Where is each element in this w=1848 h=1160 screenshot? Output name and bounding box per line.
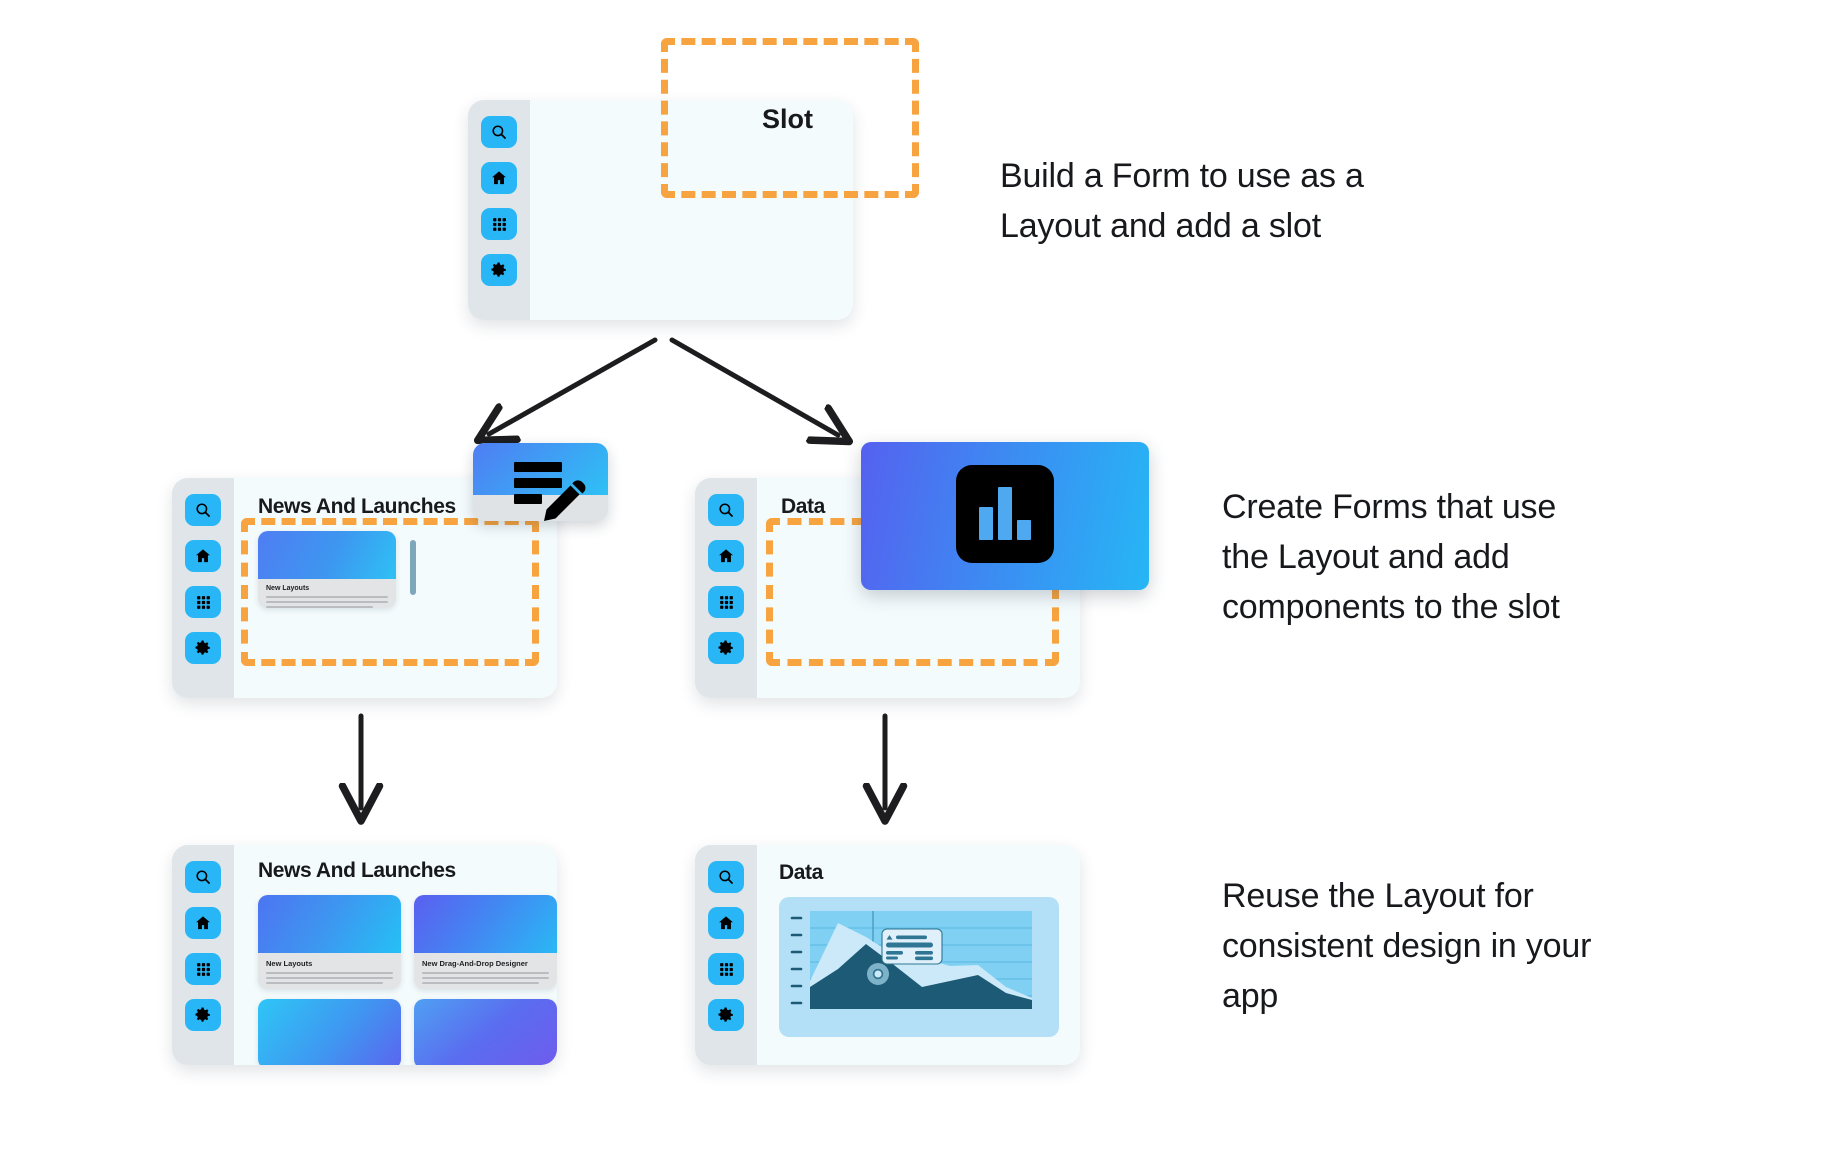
grid-icon xyxy=(491,216,508,233)
home-icon xyxy=(194,547,212,565)
sidebar-item-search[interactable] xyxy=(708,494,744,526)
caption-line: components to the slot xyxy=(1222,583,1560,633)
home-icon xyxy=(717,914,735,932)
gear-icon xyxy=(717,639,735,657)
result-data-sidebar xyxy=(695,845,757,1065)
gear-icon xyxy=(194,1006,212,1024)
result-news-content: News And Launches New Layouts New Drag-A… xyxy=(234,845,557,1065)
sidebar-item-home[interactable] xyxy=(185,540,221,572)
grid-icon xyxy=(718,961,735,978)
result-tile[interactable]: New Layouts xyxy=(258,895,401,989)
tile-body-text xyxy=(422,972,549,984)
tile-body: New Drag-And-Drop Designer xyxy=(414,953,557,989)
sidebar-item-apps[interactable] xyxy=(481,208,517,240)
sidebar-item-home[interactable] xyxy=(185,907,221,939)
tile-thumbnail xyxy=(258,895,401,953)
data-badge[interactable] xyxy=(861,442,1149,590)
data-form-sidebar xyxy=(695,478,757,698)
tile-body-text xyxy=(266,972,393,984)
sidebar-item-search[interactable] xyxy=(481,116,517,148)
layout-slot-label: Slot xyxy=(762,104,813,135)
sidebar-item-settings[interactable] xyxy=(481,254,517,286)
sidebar-item-apps[interactable] xyxy=(708,953,744,985)
y-axis-ticks xyxy=(792,918,801,1003)
result-data-content: Data xyxy=(757,845,1080,1065)
caption-line: consistent design in your xyxy=(1222,922,1591,972)
layout-sidebar xyxy=(468,100,530,320)
result-news-window[interactable]: News And Launches New Layouts New Drag-A… xyxy=(172,845,557,1065)
tile-body: New Layouts xyxy=(258,953,401,989)
caption-line: Build a Form to use as a xyxy=(1000,152,1364,202)
sidebar-item-apps[interactable] xyxy=(708,586,744,618)
area-chart xyxy=(779,897,1059,1037)
chart-marker xyxy=(874,970,883,979)
home-icon xyxy=(490,169,508,187)
caption-step-1: Build a Form to use as a Layout and add … xyxy=(1000,152,1364,252)
result-tile[interactable] xyxy=(414,999,557,1065)
sidebar-item-home[interactable] xyxy=(708,540,744,572)
page-title: News And Launches xyxy=(258,495,456,519)
search-icon xyxy=(717,868,735,886)
branch-arrow-left xyxy=(489,340,655,434)
sidebar-item-home[interactable] xyxy=(481,162,517,194)
sidebar-item-apps[interactable] xyxy=(185,586,221,618)
result-news-sidebar xyxy=(172,845,234,1065)
tile-title: New Drag-And-Drop Designer xyxy=(422,959,549,968)
grid-icon xyxy=(195,594,212,611)
sidebar-item-settings[interactable] xyxy=(185,632,221,664)
result-data-window[interactable]: Data xyxy=(695,845,1080,1065)
sidebar-item-search[interactable] xyxy=(708,861,744,893)
gear-icon xyxy=(490,261,508,279)
form-badge-news[interactable] xyxy=(473,443,608,521)
caption-step-3: Reuse the Layout for consistent design i… xyxy=(1222,872,1591,1022)
search-icon xyxy=(194,501,212,519)
diagram-canvas: Slot Build a Form to use as a Layout and… xyxy=(0,0,1848,1160)
search-icon xyxy=(194,868,212,886)
grid-icon xyxy=(195,961,212,978)
grid-icon xyxy=(718,594,735,611)
sidebar-item-home[interactable] xyxy=(708,907,744,939)
branch-arrow-right xyxy=(672,340,838,435)
caption-step-2: Create Forms that use the Layout and add… xyxy=(1222,483,1560,633)
caption-line: the Layout and add xyxy=(1222,533,1560,583)
sidebar-item-search[interactable] xyxy=(185,494,221,526)
sidebar-item-settings[interactable] xyxy=(185,999,221,1031)
caption-line: Layout and add a slot xyxy=(1000,202,1364,252)
search-icon xyxy=(717,501,735,519)
home-icon xyxy=(717,547,735,565)
sidebar-item-settings[interactable] xyxy=(708,999,744,1031)
caption-line: app xyxy=(1222,972,1591,1022)
page-title: News And Launches xyxy=(258,859,456,883)
gear-icon xyxy=(194,639,212,657)
result-tile[interactable] xyxy=(258,999,401,1065)
chart-panel[interactable] xyxy=(779,897,1059,1037)
home-icon xyxy=(194,914,212,932)
sidebar-item-search[interactable] xyxy=(185,861,221,893)
sidebar-item-apps[interactable] xyxy=(185,953,221,985)
news-form-sidebar xyxy=(172,478,234,698)
search-icon xyxy=(490,123,508,141)
chart-tooltip xyxy=(882,929,942,964)
page-title: Data xyxy=(781,495,825,519)
result-tile[interactable]: New Drag-And-Drop Designer xyxy=(414,895,557,989)
bar-chart-icon xyxy=(956,465,1054,568)
caption-line: Create Forms that use xyxy=(1222,483,1560,533)
tile-thumbnail xyxy=(414,895,557,953)
page-title: Data xyxy=(779,861,823,885)
news-form-slot-outline xyxy=(241,518,539,666)
gear-icon xyxy=(717,1006,735,1024)
caption-line: Reuse the Layout for xyxy=(1222,872,1591,922)
sidebar-item-settings[interactable] xyxy=(708,632,744,664)
tile-title: New Layouts xyxy=(266,959,393,968)
